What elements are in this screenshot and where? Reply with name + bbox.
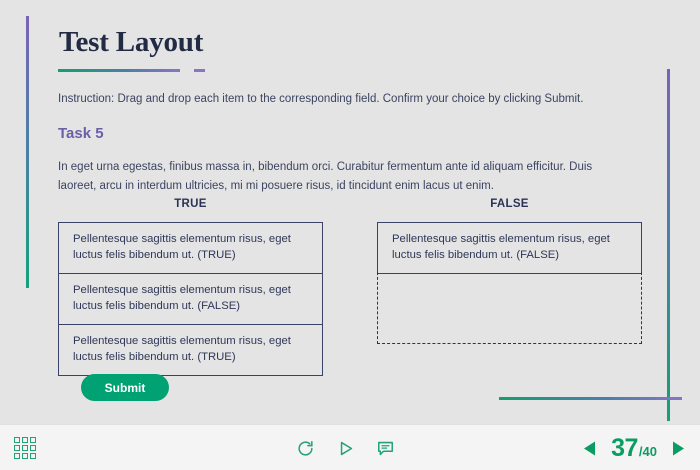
column-false: FALSE Pellentesque sagittis elementum ri… (377, 198, 642, 376)
grid-cell (22, 453, 28, 459)
list-item[interactable]: Pellentesque sagittis elementum risus, e… (377, 222, 642, 274)
column-heading-true: TRUE (58, 198, 323, 210)
grid-cell (14, 445, 20, 451)
list-item[interactable]: Pellentesque sagittis elementum risus, e… (59, 325, 322, 375)
slide-screen: Test Layout Instruction: Drag and drop e… (0, 0, 700, 470)
column-true: TRUE Pellentesque sagittis elementum ris… (58, 198, 323, 376)
grid-cell (14, 453, 20, 459)
previous-slide-icon[interactable] (582, 440, 597, 457)
comment-icon[interactable] (376, 439, 395, 458)
column-heading-false: FALSE (377, 198, 642, 210)
drag-drop-area: TRUE Pellentesque sagittis elementum ris… (58, 198, 642, 376)
title-underline (58, 69, 180, 72)
current-page: 37 (611, 434, 638, 463)
task-body-text: In eget urna egestas, finibus massa in, … (58, 158, 620, 195)
bottom-accent-line (499, 397, 682, 400)
grid-cell (30, 445, 36, 451)
play-icon[interactable] (336, 439, 355, 458)
next-slide-icon[interactable] (671, 440, 686, 457)
bottom-toolbar: 37 /40 (0, 424, 700, 470)
submit-button[interactable]: Submit (81, 374, 169, 401)
replay-icon[interactable] (296, 439, 315, 458)
title-underline-dash (194, 69, 205, 72)
grid-cell (22, 445, 28, 451)
grid-cell (30, 453, 36, 459)
empty-drop-zone[interactable] (377, 272, 642, 344)
grid-cell (14, 437, 20, 443)
list-item[interactable]: Pellentesque sagittis elementum risus, e… (59, 223, 322, 274)
right-accent-line (667, 69, 670, 421)
playback-controls (296, 425, 395, 470)
pagination: 37 /40 (582, 425, 686, 470)
list-item[interactable]: Pellentesque sagittis elementum risus, e… (59, 274, 322, 325)
page-title: Test Layout (59, 26, 203, 59)
drop-stack-false[interactable]: Pellentesque sagittis elementum risus, e… (377, 222, 642, 344)
grid-menu-icon[interactable] (14, 437, 36, 459)
grid-cell (22, 437, 28, 443)
left-accent-line (26, 16, 29, 288)
instruction-text: Instruction: Drag and drop each item to … (58, 91, 583, 107)
drop-stack-true[interactable]: Pellentesque sagittis elementum risus, e… (58, 222, 323, 376)
total-pages: /40 (639, 444, 657, 459)
page-indicator: 37 /40 (611, 434, 657, 463)
task-label: Task 5 (58, 125, 104, 142)
grid-cell (30, 437, 36, 443)
